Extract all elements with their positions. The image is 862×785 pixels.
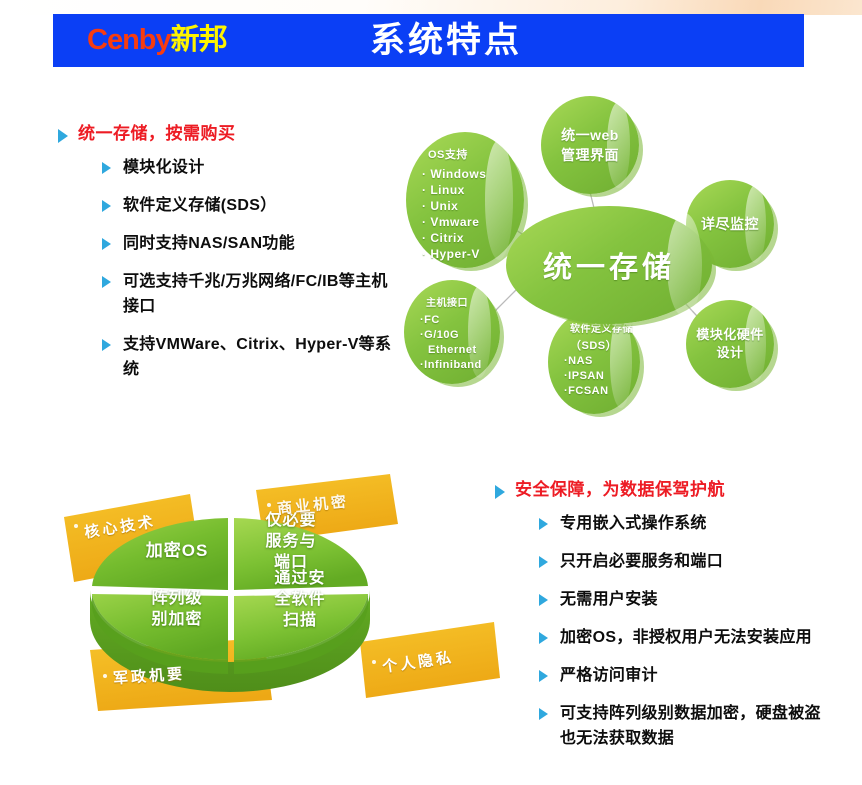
unified-storage-cluster-diagram: OS支持 · Windows · Linux · Unix · Vmware ·… — [398, 88, 818, 418]
triangle-bullet-icon — [539, 708, 548, 720]
node-item: ·NAS — [564, 354, 593, 369]
list-item: 可支持阵列级别数据加密，硬盘被盗也无法获取数据 — [539, 701, 825, 751]
list-item: 专用嵌入式操作系统 — [539, 511, 825, 536]
security-pie-diagram: 加密OS 仅必要 服务与 端口 阵列级 别加密 通过安 全软件 扫描 核心技术 … — [60, 462, 500, 727]
brand-logo-cjk: 新邦 — [171, 24, 227, 56]
node-unified-storage-center-label: 统一存储 — [506, 206, 712, 324]
left-heading-label: 统一存储，按需购买 — [78, 122, 236, 146]
triangle-bullet-icon — [539, 670, 548, 682]
right-feature-list: 安全保障，为数据保驾护航 专用嵌入式操作系统 只开启必要服务和端口 无需用户安装… — [495, 478, 825, 764]
page-title: 系统特点 — [370, 19, 522, 63]
list-item-label: 可支持阵列级别数据加密，硬盘被盗也无法获取数据 — [560, 701, 825, 751]
card-bullet-dot — [372, 660, 376, 664]
node-item: · Vmware — [422, 214, 479, 230]
header-bar: Cenby新邦 系统特点 — [53, 14, 804, 67]
node-sds-label: 软件定义存储 （SDS） ·NAS ·IPSAN ·FCSAN — [548, 310, 640, 414]
triangle-bullet-icon — [539, 518, 548, 530]
right-heading-label: 安全保障，为数据保驾护航 — [515, 478, 725, 502]
list-item: 加密OS，非授权用户无法安装应用 — [539, 625, 825, 650]
triangle-bullet-icon — [539, 594, 548, 606]
list-item: 支持VMWare、Citrix、Hyper-V等系统 — [102, 332, 398, 382]
list-item-label: 模块化设计 — [123, 155, 205, 180]
list-item-label: 严格访问审计 — [560, 663, 658, 688]
node-unified-web-ui-label: 统一web 管理界面 — [541, 96, 639, 194]
node-item: ·FCSAN — [564, 384, 609, 399]
node-item: ·FC — [420, 313, 440, 328]
node-line: 模块化硬件 — [696, 326, 764, 344]
list-item: 模块化设计 — [102, 155, 398, 180]
node-title: OS支持 — [422, 146, 468, 162]
node-line: 设计 — [716, 344, 743, 362]
node-item: ·Infiniband — [420, 358, 482, 373]
triangle-bullet-icon — [495, 485, 505, 499]
node-line: 管理界面 — [561, 145, 619, 165]
list-item-label: 可选支持千兆/万兆网络/FC/IB等主机接口 — [123, 269, 398, 319]
triangle-bullet-icon — [58, 129, 68, 143]
list-item-label: 支持VMWare、Citrix、Hyper-V等系统 — [123, 332, 398, 382]
card-bullet-dot — [74, 524, 78, 528]
list-item: 可选支持千兆/万兆网络/FC/IB等主机接口 — [102, 269, 398, 319]
list-item-label: 软件定义存储(SDS） — [123, 193, 277, 218]
list-item-label: 无需用户安装 — [560, 587, 658, 612]
triangle-bullet-icon — [102, 200, 111, 212]
list-item-label: 同时支持NAS/SAN功能 — [123, 231, 295, 256]
slice-label-encrypted-os: 加密OS — [122, 540, 232, 561]
slice-label-necessary-services: 仅必要 服务与 端口 — [236, 510, 346, 573]
slide-canvas: Cenby新邦 系统特点 统一存储，按需购买 模块化设计 软件定义存储(SDS）… — [0, 0, 862, 785]
node-host-interface: 主机接口 ·FC ·G/10G Ethernet ·Infiniband — [404, 280, 500, 384]
list-item-label: 专用嵌入式操作系统 — [560, 511, 707, 536]
right-list-heading: 安全保障，为数据保驾护航 — [495, 478, 825, 502]
triangle-bullet-icon — [539, 556, 548, 568]
left-list-heading: 统一存储，按需购买 — [58, 122, 398, 146]
slice-label-security-scan: 通过安 全软件 扫描 — [248, 568, 352, 631]
node-item: · Unix — [422, 198, 458, 214]
list-item: 严格访问审计 — [539, 663, 825, 688]
triangle-bullet-icon — [539, 632, 548, 644]
slice-label-array-encryption: 阵列级 别加密 — [118, 588, 236, 630]
node-line: 统一web — [561, 125, 619, 145]
node-item: · Linux — [422, 182, 465, 198]
node-title: 主机接口 — [420, 294, 468, 309]
node-unified-web-ui: 统一web 管理界面 — [541, 96, 639, 194]
list-item: 只开启必要服务和端口 — [539, 549, 825, 574]
node-software-defined-storage: 软件定义存储 （SDS） ·NAS ·IPSAN ·FCSAN — [548, 310, 640, 414]
left-feature-list: 统一存储，按需购买 模块化设计 软件定义存储(SDS） 同时支持NAS/SAN功… — [58, 122, 398, 395]
node-item: · Hyper-V — [422, 246, 480, 262]
node-item: · Citrix — [422, 230, 464, 246]
node-unified-storage-center: 统一存储 — [506, 206, 712, 324]
triangle-bullet-icon — [102, 238, 111, 250]
card-bullet-dot — [267, 503, 271, 507]
top-edge-tint — [0, 0, 862, 15]
list-item-label: 加密OS，非授权用户无法安装应用 — [560, 625, 812, 650]
node-subtitle: （SDS） — [564, 339, 617, 354]
list-item: 同时支持NAS/SAN功能 — [102, 231, 398, 256]
node-host-interface-label: 主机接口 ·FC ·G/10G Ethernet ·Infiniband — [404, 280, 500, 384]
list-item: 软件定义存储(SDS） — [102, 193, 398, 218]
triangle-bullet-icon — [102, 339, 111, 351]
node-item: ·IPSAN — [564, 369, 604, 384]
list-item-label: 只开启必要服务和端口 — [560, 549, 723, 574]
brand-logo: Cenby新邦 — [87, 21, 227, 59]
triangle-bullet-icon — [102, 276, 111, 288]
card-bullet-dot — [103, 674, 107, 678]
node-item: Ethernet — [420, 343, 477, 358]
node-item: · Windows — [422, 166, 486, 182]
brand-logo-latin: Cenby — [87, 24, 171, 56]
list-item: 无需用户安装 — [539, 587, 825, 612]
node-item: ·G/10G — [420, 328, 459, 343]
triangle-bullet-icon — [102, 162, 111, 174]
